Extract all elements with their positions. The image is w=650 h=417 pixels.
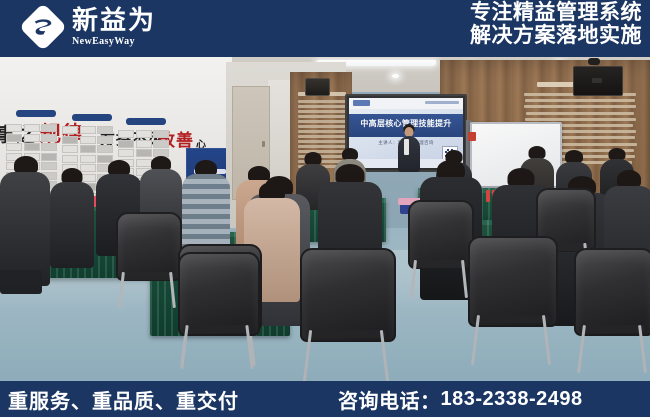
- brand-name-cn: 新益为: [72, 8, 156, 34]
- footer-phone-number[interactable]: 183-2338-2498: [441, 388, 583, 411]
- drink-bottle: [486, 190, 490, 202]
- whiteboard-clip: [468, 132, 476, 141]
- bottom-banner: 重服务、重品质、重交付 咨询电话： 183-2338-2498: [0, 381, 650, 417]
- footer-tagline-text: 重服务、重品质、重交付: [8, 385, 239, 414]
- swirl-glyph: [33, 18, 54, 37]
- chair: [574, 248, 650, 372]
- diamond-swirl-logo-icon: [22, 6, 65, 49]
- chair: [408, 200, 470, 296]
- banner-slogan: 专注精益管理系统 解决方案落地实施: [470, 2, 642, 47]
- spot-light: [392, 74, 399, 78]
- screenshot-root: 事之 规律 方持不灭 改善 心: [0, 0, 650, 417]
- attendee: [50, 168, 94, 268]
- slogan-line-1: 专注精益管理系统: [470, 2, 642, 25]
- wall-speaker-icon: [305, 78, 330, 96]
- ceiling-camera-icon: [588, 58, 600, 65]
- brand-logo[interactable]: 新益为 NewEasyWay: [22, 6, 156, 49]
- wall-monitor: [573, 66, 623, 96]
- wall-section-badge: [126, 118, 166, 125]
- floor-bag: [0, 270, 42, 294]
- top-banner: 新益为 NewEasyWay 专注精益管理系统 解决方案落地实施: [0, 0, 650, 57]
- wall-section-badge: [16, 110, 56, 117]
- attendee: [182, 160, 230, 256]
- training-room-photo: 事之 规律 方持不灭 改善 心: [0, 0, 650, 417]
- chair: [116, 212, 178, 308]
- footer-contact[interactable]: 咨询电话： 183-2338-2498: [338, 381, 583, 417]
- footer-tagline: 重服务、重品质、重交付: [8, 381, 239, 417]
- wall-section-badge: [72, 114, 112, 121]
- chair: [178, 252, 256, 370]
- chair: [468, 236, 554, 364]
- slogan-line-2: 解决方案落地实施: [470, 25, 642, 48]
- chair: [300, 248, 392, 380]
- footer-phone-label: 咨询电话：: [338, 385, 441, 414]
- presenter: [396, 124, 422, 172]
- attendee: [0, 156, 50, 286]
- brand-name-en: NewEasyWay: [72, 37, 156, 47]
